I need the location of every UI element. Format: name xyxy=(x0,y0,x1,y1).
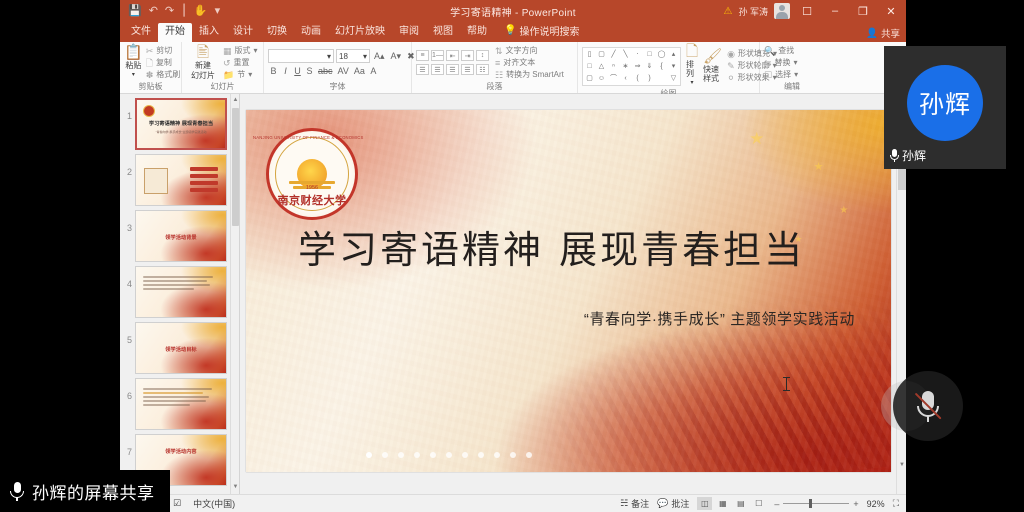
font-name-input[interactable]: ▾ xyxy=(268,49,334,63)
shape-triangle-icon[interactable]: △ xyxy=(596,61,607,72)
black-letterbox-left xyxy=(0,0,120,512)
thumb-title: 领学活动目标 xyxy=(138,345,224,353)
webcam-tile[interactable]: 孙辉 孙辉 xyxy=(884,46,1006,169)
layout-button[interactable]: ▦ 版式 ▾ xyxy=(223,46,258,56)
zoom-knob[interactable] xyxy=(809,499,812,508)
group-editing: 🔍 查找 ⇆ 替换 ▾ ☐ 选择 ▾ xyxy=(760,42,824,93)
tab-design[interactable]: 设计 xyxy=(226,23,260,42)
replace-button[interactable]: ⇆ 替换 ▾ xyxy=(764,58,798,68)
shape-fill-icon: ◉ xyxy=(727,49,735,59)
shape-arrow-right-icon[interactable]: ⇒ xyxy=(632,61,643,72)
thumb-number: 6 xyxy=(123,378,132,401)
cut-label: 剪切 xyxy=(156,46,172,56)
group-font: ▾ 18 ▾ A▴ A▾ ✖ B I U S xyxy=(264,42,412,93)
tab-animations[interactable]: 动画 xyxy=(294,23,328,42)
warning-icon[interactable]: ⚠ xyxy=(724,6,733,17)
slide-dot-decoration xyxy=(366,452,532,458)
shape-line-icon[interactable]: ╱ xyxy=(608,49,619,60)
thumb-logo-icon xyxy=(143,105,155,117)
group-label-editing: 编辑 xyxy=(764,81,820,93)
logo-chinese-name: 南京财经大学 xyxy=(266,192,358,208)
shape-outline-icon: ✎ xyxy=(727,61,735,71)
quick-styles-icon: 🖌 xyxy=(703,49,722,64)
thumb-text-lines xyxy=(143,388,216,406)
select-label: 选择 xyxy=(775,70,791,80)
flag-star-icon: ★ xyxy=(749,132,764,145)
convert-smartart-button[interactable]: ☷ 转换为 SmartArt xyxy=(495,70,564,80)
scroll-down-icon[interactable]: ▼ xyxy=(232,483,239,492)
increase-indent-icon[interactable]: ⇥ xyxy=(461,50,474,61)
flag-star-icon: ★ xyxy=(839,204,848,217)
participant-avatar: 孙辉 xyxy=(907,65,983,141)
thumb-image[interactable]: 领学活动背景 xyxy=(135,210,227,262)
copy-button[interactable]: 🗋 复制 xyxy=(146,58,181,68)
comments-button[interactable]: 💬 批注 xyxy=(657,497,689,510)
thumb-number: 1 xyxy=(123,98,132,121)
font-size-caret-icon[interactable]: ▾ xyxy=(363,52,367,61)
thumb-subtitle: “青春向学·携手成长”主题领学实践活动 xyxy=(137,130,225,134)
slideshow-button[interactable]: ☐ xyxy=(751,497,766,510)
zoom-in-button[interactable]: + xyxy=(853,499,858,509)
new-slide-label-2: 幻灯片 xyxy=(191,71,215,80)
format-painter-button[interactable]: ✽ 格式刷 xyxy=(146,70,181,80)
thumb-number: 3 xyxy=(123,210,132,233)
find-button[interactable]: 🔍 查找 xyxy=(764,46,798,56)
group-clipboard: 📋 粘贴 ▾ ✂ 剪切 🗋 复制 xyxy=(120,42,182,93)
shape-chevron-icon[interactable]: ‹ xyxy=(620,73,631,84)
tab-transitions[interactable]: 切换 xyxy=(260,23,294,42)
tab-insert[interactable]: 插入 xyxy=(192,23,226,42)
thumb-image[interactable] xyxy=(135,266,227,318)
bullets-icon[interactable]: ≡ xyxy=(416,50,429,61)
flag-star-icon: ★ xyxy=(814,161,824,174)
slide-subtitle[interactable]: “青春向学·携手成长” 主题领学实践活动 xyxy=(584,308,855,329)
quick-styles-label: 快速样式 xyxy=(703,65,722,83)
strikethrough-button[interactable]: abc xyxy=(316,66,335,76)
screen-share-label: 孙辉的屏幕共享 xyxy=(32,479,155,504)
ribbon-display-options-icon[interactable]: ☐ xyxy=(796,5,818,18)
thumb-title: 学习寄语精神 展现青春担当 xyxy=(139,119,223,127)
justify-icon[interactable]: ☰ xyxy=(461,64,474,75)
slide-title[interactable]: 学习寄语精神 展现青春担当 xyxy=(298,228,861,272)
slide-canvas-pane: ★ ★ ★ ★ NANJING UNIVERSITY OF FINANCE & … xyxy=(240,94,906,494)
shape-scroll-down-icon[interactable]: ▾ xyxy=(668,61,679,72)
paste-caret-icon[interactable]: ▾ xyxy=(132,71,135,80)
title-bar: 💾 ↶ ↷ ⎮ ✋ ▾ 学习寄语精神 - PowerPoint ⚠ 孙 军涛 ☐… xyxy=(120,0,906,22)
shape-arrow-icon[interactable]: ╲ xyxy=(620,49,631,60)
align-left-icon[interactable]: ☰ xyxy=(416,64,429,75)
participant-name-bar: 孙辉 xyxy=(890,147,926,164)
arrange-label: 排列 xyxy=(686,60,698,78)
convert-smartart-label: 转换为 SmartArt xyxy=(506,70,564,80)
thumb-title: 领学活动背景 xyxy=(138,233,224,241)
replace-caret-icon[interactable]: ▾ xyxy=(794,58,798,68)
thumb-bullet-list xyxy=(190,167,218,192)
ribbon-body: 📋 粘贴 ▾ ✂ 剪切 🗋 复制 xyxy=(120,42,906,94)
tab-review[interactable]: 审阅 xyxy=(392,23,426,42)
tell-me-box[interactable]: 💡 操作说明搜索 xyxy=(494,23,585,42)
main-area: 1 学习寄语精神 展现青春担当 “青春向学·携手成长”主题领学实践活动 2 xyxy=(120,94,906,494)
logo-ray xyxy=(289,181,335,184)
thumb-image[interactable] xyxy=(135,378,227,430)
new-slide-icon: 🖹 xyxy=(197,45,209,60)
paste-button[interactable]: 📋 粘贴 ▾ xyxy=(124,45,143,80)
line-spacing-icon[interactable]: ↕ xyxy=(476,50,489,61)
mic-icon xyxy=(890,149,899,162)
columns-icon[interactable]: ☷ xyxy=(476,64,489,75)
tab-home[interactable]: 开始 xyxy=(158,23,192,42)
layout-label: 版式 xyxy=(235,46,251,56)
select-button[interactable]: ☐ 选择 ▾ xyxy=(764,70,798,80)
status-right: ☵ 备注 💬 批注 ◫ ▦ ▤ ☐ – + 92% xyxy=(620,497,906,510)
tell-me-label: 操作说明搜索 xyxy=(519,23,579,38)
copy-label: 复制 xyxy=(156,58,172,68)
arrange-button[interactable]: 🗋 排列 ▾ xyxy=(686,44,698,88)
scroll-down-icon[interactable]: ▼ xyxy=(898,460,906,470)
thumb-bg xyxy=(136,267,226,317)
quick-access-toolbar[interactable]: 💾 ↶ ↷ ⎮ ✋ ▾ xyxy=(120,6,220,17)
scroll-thumb[interactable] xyxy=(232,108,239,226)
logo-year: 1956 xyxy=(266,185,358,191)
font-name-caret-icon[interactable]: ▾ xyxy=(327,52,331,61)
university-logo: NANJING UNIVERSITY OF FINANCE & ECONOMIC… xyxy=(266,128,358,220)
replace-icon: ⇆ xyxy=(764,58,772,68)
slide-thumbnail-pane[interactable]: 1 学习寄语精神 展现青春担当 “青春向学·携手成长”主题领学实践活动 2 xyxy=(120,94,240,494)
screen-root: 💾 ↶ ↷ ⎮ ✋ ▾ 学习寄语精神 - PowerPoint ⚠ 孙 军涛 ☐… xyxy=(0,0,1024,512)
shape-square-icon[interactable]: □ xyxy=(644,49,655,60)
redo-icon[interactable]: ↷ xyxy=(165,6,174,17)
align-text-button[interactable]: ≡ 对齐文本 xyxy=(495,58,564,68)
group-label-slides: 幻灯片 xyxy=(186,81,259,93)
mute-toggle-button[interactable] xyxy=(893,371,963,441)
layout-caret-icon[interactable]: ▾ xyxy=(254,46,258,56)
lightbulb-icon: 💡 xyxy=(504,25,516,36)
shape-cube-icon[interactable]: ▢ xyxy=(584,73,595,84)
minimize-button[interactable]: – xyxy=(824,5,846,17)
shape-connector-icon[interactable]: ⋅ xyxy=(632,49,643,60)
thumbnail-item-2[interactable]: 2 xyxy=(120,150,239,206)
share-button[interactable]: 👤 共享 xyxy=(866,26,900,40)
language-label[interactable]: 中文(中国) xyxy=(193,497,235,510)
title-bar-right: ⚠ 孙 军涛 ☐ – ❐ ✕ xyxy=(724,0,902,22)
shape-effects-icon: ⚪ xyxy=(727,73,735,83)
new-slide-button[interactable]: 🖹 新建 幻灯片 xyxy=(186,45,220,80)
align-right-icon[interactable]: ☰ xyxy=(446,64,459,75)
shapes-gallery[interactable]: ▯ ▢ ╱ ╲ ⋅ □ ◯ ▴ □ △ ⁿ ∗ ⇒ ⇓ { xyxy=(582,47,681,86)
reset-button[interactable]: ↺ 重置 xyxy=(223,58,258,68)
spellcheck-icon[interactable]: ☑ xyxy=(173,498,181,509)
find-label: 查找 xyxy=(778,46,794,56)
paste-label: 粘贴 xyxy=(125,61,141,70)
close-button[interactable]: ✕ xyxy=(880,5,902,18)
arrange-icon: 🗋 xyxy=(686,44,698,59)
section-caret-icon[interactable]: ▾ xyxy=(248,70,252,80)
thumb-number: 4 xyxy=(123,266,132,289)
change-case-button[interactable]: Aa xyxy=(352,66,367,76)
select-icon: ☐ xyxy=(764,70,772,80)
decrease-font-size-icon[interactable]: A▾ xyxy=(389,51,404,62)
restore-button[interactable]: ❐ xyxy=(852,5,874,18)
thumb-title: 领学活动内容 xyxy=(138,447,224,455)
thumbnail-item-6[interactable]: 6 xyxy=(120,374,239,430)
thumb-text-lines xyxy=(143,276,216,290)
italic-button[interactable]: I xyxy=(280,66,291,76)
text-direction-label: 文字方向 xyxy=(506,46,538,56)
thumbnail-item-5[interactable]: 5 领学活动目标 xyxy=(120,318,239,374)
reset-icon: ↺ xyxy=(223,58,231,68)
slide-canvas[interactable]: ★ ★ ★ ★ NANJING UNIVERSITY OF FINANCE & … xyxy=(246,110,891,472)
shape-rounded-icon[interactable]: ▢ xyxy=(596,49,607,60)
underline-button[interactable]: U xyxy=(292,66,303,76)
shape-arrow-down-icon[interactable]: ⇓ xyxy=(644,61,655,72)
shape-arc-icon[interactable]: ⌒ xyxy=(608,73,619,84)
shape-smiley-icon[interactable]: ☺ xyxy=(596,73,607,84)
group-paragraph: ≡ 1— ⇤ ⇥ ↕ ☰ ☰ ☰ ☰ ☷ xyxy=(412,42,578,93)
tab-view[interactable]: 视图 xyxy=(426,23,460,42)
avatar[interactable] xyxy=(774,3,790,19)
shape-scroll-more-icon[interactable]: ▽ xyxy=(668,73,679,84)
participant-name: 孙辉 xyxy=(902,147,926,164)
touch-mode-icon[interactable]: ✋ xyxy=(194,6,208,17)
shape-blank-icon[interactable] xyxy=(656,73,667,84)
zoom-out-button[interactable]: – xyxy=(774,499,779,509)
start-slideshow-icon[interactable]: ⎮ xyxy=(181,6,187,17)
select-caret-icon[interactable]: ▾ xyxy=(794,70,798,80)
section-icon: 📁 xyxy=(223,70,234,80)
scissors-icon: ✂ xyxy=(146,46,154,56)
group-label-paragraph: 段落 xyxy=(416,81,573,93)
replace-label: 替换 xyxy=(775,58,791,68)
group-drawing: ▯ ▢ ╱ ╲ ⋅ □ ◯ ▴ □ △ ⁿ ∗ ⇒ ⇓ { xyxy=(578,42,760,93)
comments-label: 批注 xyxy=(671,497,689,510)
undo-icon[interactable]: ↶ xyxy=(149,6,158,17)
comment-icon: 💬 xyxy=(657,498,668,509)
reset-label: 重置 xyxy=(234,58,250,68)
decrease-indent-icon[interactable]: ⇤ xyxy=(446,50,459,61)
format-painter-label: 格式刷 xyxy=(156,70,180,80)
account-name[interactable]: 孙 军涛 xyxy=(738,5,768,18)
section-button[interactable]: 📁 节 ▾ xyxy=(223,70,258,80)
thumb-image[interactable]: 领学活动目标 xyxy=(135,322,227,374)
copy-icon: 🗋 xyxy=(146,58,153,68)
thumbnail-item-1[interactable]: 1 学习寄语精神 展现青春担当 “青春向学·携手成长”主题领学实践活动 xyxy=(120,94,239,150)
thumbnail-item-4[interactable]: 4 xyxy=(120,262,239,318)
align-text-icon: ≡ xyxy=(495,58,500,68)
quick-styles-button[interactable]: 🖌 快速样式 xyxy=(703,49,722,83)
numbering-icon[interactable]: 1— xyxy=(431,50,444,61)
shadow-button[interactable]: S xyxy=(304,66,315,76)
ribbon-tab-strip: 文件 开始 插入 设计 切换 动画 幻灯片放映 审阅 视图 帮助 💡 操作说明搜… xyxy=(120,22,906,42)
notes-icon: ☵ xyxy=(620,498,628,509)
thumb-image[interactable] xyxy=(135,154,227,206)
shape-oval-icon[interactable]: ◯ xyxy=(656,49,667,60)
screen-share-bar[interactable]: 孙辉的屏幕共享 xyxy=(0,470,170,512)
zoom-slider[interactable]: – + xyxy=(774,499,858,509)
thumb-card-shape xyxy=(144,168,168,194)
search-icon: 🔍 xyxy=(764,46,775,56)
group-slides: 🖹 新建 幻灯片 ▦ 版式 ▾ ↺ 重置 xyxy=(182,42,264,93)
save-icon[interactable]: 💾 xyxy=(128,6,142,17)
font-color-button[interactable]: A xyxy=(368,66,379,76)
shape-paren-left-icon[interactable]: ( xyxy=(632,73,643,84)
arrange-caret-icon[interactable]: ▾ xyxy=(691,79,694,88)
shape-rect-icon[interactable]: ▯ xyxy=(584,49,595,60)
fit-slide-icon[interactable]: ⛶ xyxy=(893,498,899,509)
thumbnail-item-3[interactable]: 3 领学活动背景 xyxy=(120,206,239,262)
view-buttons: ◫ ▦ ▤ ☐ xyxy=(697,497,766,510)
thumbnail-scrollbar[interactable]: ▲ ▼ xyxy=(230,94,239,494)
bold-button[interactable]: B xyxy=(268,66,279,76)
text-direction-icon: ⇅ xyxy=(495,46,503,56)
thumb-image[interactable]: 学习寄语精神 展现青春担当 “青春向学·携手成长”主题领学实践活动 xyxy=(135,98,227,150)
shape-paren-right-icon[interactable]: ) xyxy=(644,73,655,84)
increase-font-size-icon[interactable]: A▴ xyxy=(372,51,387,62)
shape-freeform-icon[interactable]: ∗ xyxy=(620,61,631,72)
thumb-number: 7 xyxy=(123,434,132,457)
tab-file[interactable]: 文件 xyxy=(124,23,158,42)
shape-bracket-icon[interactable]: { xyxy=(656,61,667,72)
thumb-number: 2 xyxy=(123,154,132,177)
tab-slideshow[interactable]: 幻灯片放映 xyxy=(328,23,392,42)
section-label: 节 xyxy=(237,70,245,80)
text-direction-button[interactable]: ⇅ 文字方向 xyxy=(495,46,564,56)
zoom-track[interactable] xyxy=(783,503,849,504)
paste-icon: 📋 xyxy=(124,45,143,60)
slide-sorter-button[interactable]: ▦ xyxy=(715,497,730,510)
share-person-icon: 👤 xyxy=(866,28,878,39)
reading-view-button[interactable]: ▤ xyxy=(733,497,748,510)
qat-more-icon[interactable]: ▾ xyxy=(215,6,221,17)
notes-label: 备注 xyxy=(631,497,649,510)
share-label: 共享 xyxy=(881,26,900,40)
font-size-value: 18 xyxy=(339,52,348,61)
powerpoint-window: 💾 ↶ ↷ ⎮ ✋ ▾ 学习寄语精神 - PowerPoint ⚠ 孙 军涛 ☐… xyxy=(120,0,906,512)
group-label-clipboard: 剪贴板 xyxy=(124,81,177,93)
font-size-input[interactable]: 18 ▾ xyxy=(336,49,370,63)
smartart-icon: ☷ xyxy=(495,70,503,80)
layout-icon: ▦ xyxy=(223,46,232,56)
thumb-number: 5 xyxy=(123,322,132,345)
align-text-label: 对齐文本 xyxy=(503,58,535,68)
shape-rect2-icon[interactable]: □ xyxy=(584,61,595,72)
tab-help[interactable]: 帮助 xyxy=(460,23,494,42)
format-painter-icon: ✽ xyxy=(146,70,154,80)
share-mic-icon xyxy=(10,482,24,501)
normal-view-button[interactable]: ◫ xyxy=(697,497,712,510)
group-label-font: 字体 xyxy=(268,81,407,93)
status-bar: 共 22 张 ☑ 中文(中国) ☵ 备注 💬 批注 ◫ ▦ ▤ ☐ xyxy=(120,494,906,512)
character-spacing-button[interactable]: AV xyxy=(336,66,351,76)
shape-curve-icon[interactable]: ⁿ xyxy=(608,61,619,72)
new-slide-label-1: 新建 xyxy=(195,61,211,70)
scroll-up-icon[interactable]: ▲ xyxy=(232,96,239,105)
cut-button[interactable]: ✂ 剪切 xyxy=(146,46,181,56)
text-cursor-icon xyxy=(786,377,787,391)
zoom-level-label[interactable]: 92% xyxy=(867,499,885,509)
align-center-icon[interactable]: ☰ xyxy=(431,64,444,75)
shape-more-icon[interactable]: ▴ xyxy=(668,49,679,60)
notes-button[interactable]: ☵ 备注 xyxy=(620,497,649,510)
